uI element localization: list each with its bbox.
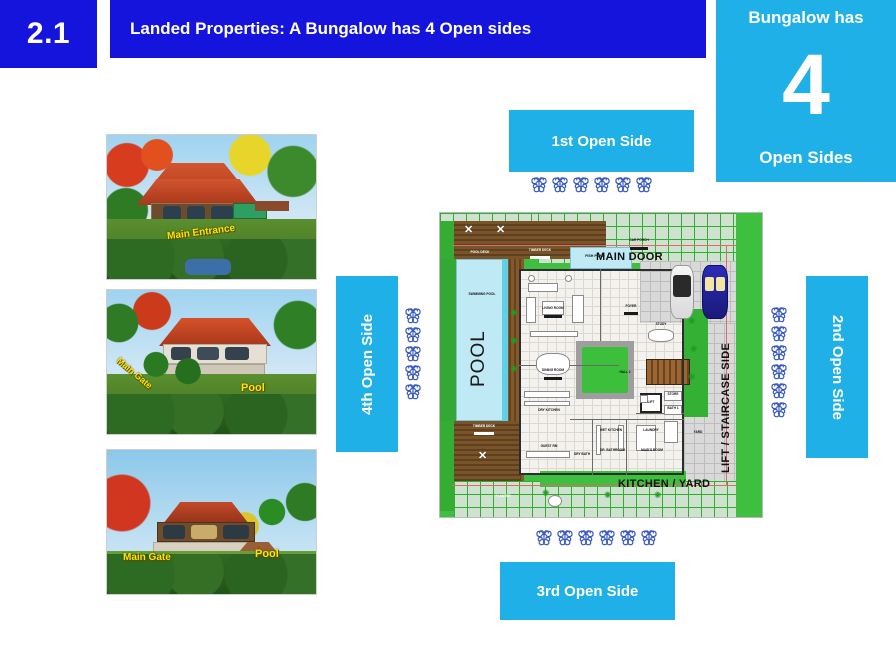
gazebo-roof [255,201,289,211]
house-window [225,347,249,360]
plan-furniture-sofa [528,283,558,292]
plan-boundary-line [452,245,736,246]
plan-furniture-study-table [648,329,674,342]
room-label-yard: YARD [688,431,708,435]
house-window [191,525,217,539]
label-4th-open-side: 4th Open Side [336,276,398,452]
plan-furniture-counter [524,391,570,398]
spiral-ornament-icon [551,175,569,193]
room-label-store: STORE [664,393,682,397]
spiral-ornament-icon [404,344,422,362]
plan-furniture-counter [524,401,570,406]
plan-patio-umbrella: ✕ [464,225,473,236]
spiral-ornament-icon [556,528,574,546]
plan-label-lift-staircase-side: LIFT / STAIRCASE SIDE [720,343,732,473]
spiral-ornament-icon [770,362,788,380]
spiral-ornament-icon [770,400,788,418]
label-3rd-open-side: 3rd Open Side [500,562,675,620]
room-label-underline [544,315,562,318]
label-1st-open-side: 1st Open Side [509,110,694,172]
room-label-bath-1: BATH 1 [664,407,682,411]
house-window [163,525,185,539]
photo-hedge [106,394,317,435]
palm-tree-icon: ✺ [604,491,612,500]
slide-root: 2.1 Landed Properties: A Bungalow has 4 … [0,0,896,672]
room-label-wet-kitchen: WET KITCHEN [596,429,626,433]
plan-furniture-counter [526,451,570,458]
tree-foliage [175,356,201,394]
room-label-foyer: FOYER [618,305,644,309]
label-2nd-open-side: 2nd Open Side [806,276,868,458]
ornament-row-bottom [535,528,658,546]
plan-patio-umbrella: ✕ [478,451,487,462]
house-roof-main [137,179,259,205]
floor-plan: ✕ ✕ ✕ ✺ ✺ ✺ ✺ ✺ ✺ ✺ ✺ ✺ SWIMMING POOL LI… [439,212,763,518]
room-label-dry-bath: DRY BATH [571,453,593,457]
photo-bungalow-aerial-front: Main Entrance [106,134,317,280]
spiral-ornament-icon [593,175,611,193]
plan-car-window [705,277,714,291]
photo-label: Main Gate [123,552,171,563]
house-window [197,347,219,360]
room-label-living-room: LIVING ROOM [536,307,570,311]
plan-green-grid-northwest [440,213,538,221]
kpi-bottom-label: Open Sides [759,148,853,168]
room-label-dining-room: DINING ROOM [536,369,570,373]
room-label-maids-room: MAID'S ROOM [636,449,668,453]
spiral-ornament-icon [614,175,632,193]
room-label-study: STUDY [648,323,674,327]
ornament-row-right [770,305,788,418]
plan-pool-edge [502,259,508,421]
photo-label: Pool [241,382,265,394]
palm-tree-icon: ✺ [654,491,662,500]
plan-label-pool: POOL [468,330,490,387]
spiral-ornament-icon [598,528,616,546]
room-label-lift: LIFT [643,401,659,405]
photo-bungalow-aerial-pool: Main Gate Pool [106,289,317,435]
room-label-timber-deck: TIMBER DECK [522,249,558,253]
plan-furniture-sofa [572,295,584,323]
kpi-top-label: Bungalow has [748,8,863,28]
plan-lawn-east [736,213,763,518]
plan-planter-west [440,259,456,421]
spiral-ornament-icon [577,528,595,546]
label-text: 1st Open Side [551,133,651,150]
spiral-ornament-icon [404,306,422,324]
plan-car-window [673,275,691,297]
label-text: 3rd Open Side [537,583,639,600]
palm-tree-icon: ✺ [688,373,696,382]
spiral-ornament-icon [404,363,422,381]
plan-partition [592,419,593,475]
plan-furniture-lamp [528,275,535,282]
room-label-planter: PLANTER [488,495,518,499]
kpi-value: 4 [782,46,830,125]
room-label-guest-room: GUEST RM [532,445,566,449]
spiral-ornament-icon [640,528,658,546]
plan-partition [600,269,601,341]
label-text: 4th Open Side [359,314,376,415]
palm-tree-icon: ✺ [510,309,518,318]
room-label-hall-2: HALL 2 [614,371,636,375]
palm-tree-icon: ✺ [542,489,550,498]
plan-patio-table [548,495,562,507]
kpi-panel-open-sides: Bungalow has 4 Open Sides [716,0,896,182]
slide-number-badge: 2.1 [0,0,97,68]
spiral-ornament-icon [535,528,553,546]
palm-tree-icon: ✺ [690,345,698,354]
room-label-dry-kitchen: DRY KITCHEN [532,409,566,413]
plan-furniture-cabinet [664,421,678,443]
room-label-underline [474,432,494,435]
palm-tree-icon: ✺ [510,337,518,346]
slide-title-bar: Landed Properties: A Bungalow has 4 Open… [110,0,706,58]
plan-car-window [716,277,725,291]
spiral-ornament-icon [619,528,637,546]
label-text: 2nd Open Side [829,314,846,419]
spiral-ornament-icon [404,382,422,400]
plan-label-main-door: MAIN DOOR [596,251,663,263]
spiral-ornament-icon [530,175,548,193]
spiral-ornament-icon [404,325,422,343]
spiral-ornament-icon [770,324,788,342]
room-label-underline [630,247,648,250]
room-label-underline [544,377,562,380]
palm-tree-icon: ✺ [510,365,518,374]
photo-label: Pool [255,548,279,560]
spiral-ornament-icon [770,381,788,399]
ornament-row-left [404,306,422,400]
ornament-row-top [530,175,653,193]
room-label-timber-deck-south: TIMBER DECK [466,425,502,429]
plan-wall [519,269,521,475]
page-title: Landed Properties: A Bungalow has 4 Open… [130,19,531,39]
palm-tree-icon: ✺ [688,317,696,326]
parked-car [185,259,231,275]
spiral-ornament-icon [635,175,653,193]
plan-wall [519,473,684,475]
room-label-car-porch: CAR PORCH [622,239,656,243]
plan-partition [570,419,684,420]
house-window [223,525,249,539]
plan-furniture-lamp [565,275,572,282]
room-label-swimming-pool: SWIMMING POOL [462,293,502,297]
spiral-ornament-icon [770,305,788,323]
spiral-ornament-icon [770,343,788,361]
photo-bungalow-elevation: Main Gate Pool [106,449,317,595]
plan-car-blue [702,265,728,319]
spiral-ornament-icon [572,175,590,193]
room-label-underline [530,256,550,259]
plan-wall [519,269,684,271]
slide-number-text: 2.1 [27,17,70,51]
plan-label-kitchen-yard: KITCHEN / YARD [618,478,710,490]
plan-furniture-console [530,331,578,337]
plan-patio-umbrella: ✕ [496,225,505,236]
room-label-laundry: LAUNDRY [636,429,666,433]
room-label-dr-bathroom: DR. BATHROOM [600,449,624,453]
room-label-underline [624,312,638,315]
plan-furniture-sofa [526,297,536,323]
room-label-pool-deck: POOL DECK [462,251,498,255]
plan-partition [626,419,627,475]
